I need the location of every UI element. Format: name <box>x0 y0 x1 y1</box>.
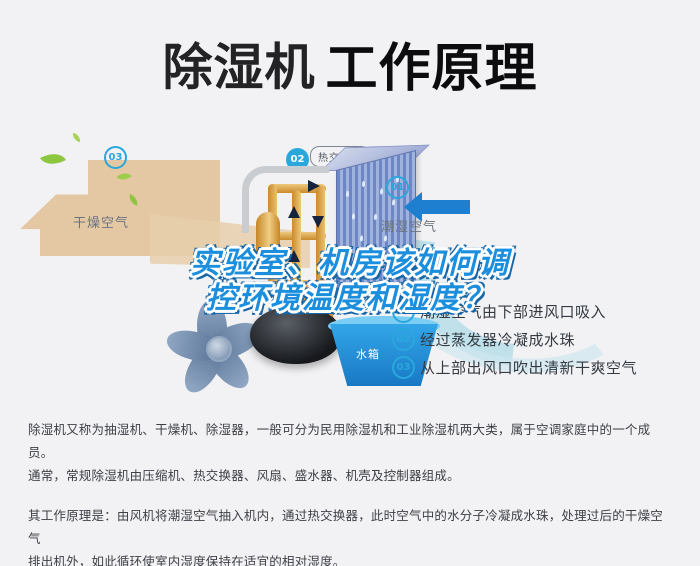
leaf-icon <box>71 133 82 142</box>
label-humid-air: 潮湿空气 <box>381 216 437 235</box>
overlay-headline-line1: 实验室、机房该如何调 <box>0 246 700 281</box>
page-title-part1: 除湿机 <box>162 39 315 97</box>
paragraph-1: 除湿机又称为抽湿机、干燥机、除湿器，一般可分为民用除湿机和工业除湿机两大类，属于… <box>28 418 674 487</box>
paragraph-1-line-2: 通常，常规除湿机由压缩机、热交换器、风扇、盛水器、机壳及控制器组成。 <box>28 468 460 483</box>
leaf-icon <box>40 148 66 171</box>
fan-hub <box>206 336 232 362</box>
legend-badge-02: 02 <box>392 328 415 351</box>
label-dry-air: 干燥空气 <box>73 212 129 231</box>
label-water-tank: 水箱 <box>356 346 380 362</box>
infographic-page: 除湿机工作原理 03 干燥空气 02 热交换器 <box>0 0 700 566</box>
legend-item: 03从上部出风口吹出清新干爽空气 <box>392 356 637 384</box>
air-intake-arrow <box>416 200 470 214</box>
page-title: 除湿机工作原理 <box>0 26 700 101</box>
legend-text-02: 经过蒸发器冷凝成水珠 <box>420 329 575 350</box>
badge-03-dry-air: 03 <box>104 146 127 169</box>
flow-arrow-up-icon <box>288 206 300 218</box>
legend-text-03: 从上部出风口吹出清新干爽空气 <box>420 357 637 378</box>
badge-01-humid-air: 01 <box>386 176 409 199</box>
paragraph-2-line-2: 排出机外，如此循环使室内湿度保持在适宜的相对湿度。 <box>28 554 346 566</box>
paragraph-2-line-1: 其工作原理是：由风机将潮湿空气抽入机内，通过热交换器，此时空气中的水分子冷凝成水… <box>28 508 663 546</box>
legend-badge-03: 03 <box>392 356 415 379</box>
article-body: 除湿机又称为抽湿机、干燥机、除湿器，一般可分为民用除湿机和工业除湿机两大类，属于… <box>28 418 674 566</box>
paragraph-1-line-1: 除湿机又称为抽湿机、干燥机、除湿器，一般可分为民用除湿机和工业除湿机两大类，属于… <box>28 422 650 460</box>
paragraph-2: 其工作原理是：由风机将潮湿空气抽入机内，通过热交换器，此时空气中的水分子冷凝成水… <box>28 504 674 566</box>
flow-arrow-down-icon <box>312 216 324 228</box>
overlay-headline: 实验室、机房该如何调 控环境温度和湿度？ <box>0 246 700 316</box>
legend-item: 02经过蒸发器冷凝成水珠 <box>392 328 637 356</box>
page-title-part2: 工作原理 <box>325 38 537 99</box>
overlay-headline-line2: 控环境温度和湿度？ <box>0 281 700 316</box>
flow-arrow-right-icon <box>308 180 320 192</box>
